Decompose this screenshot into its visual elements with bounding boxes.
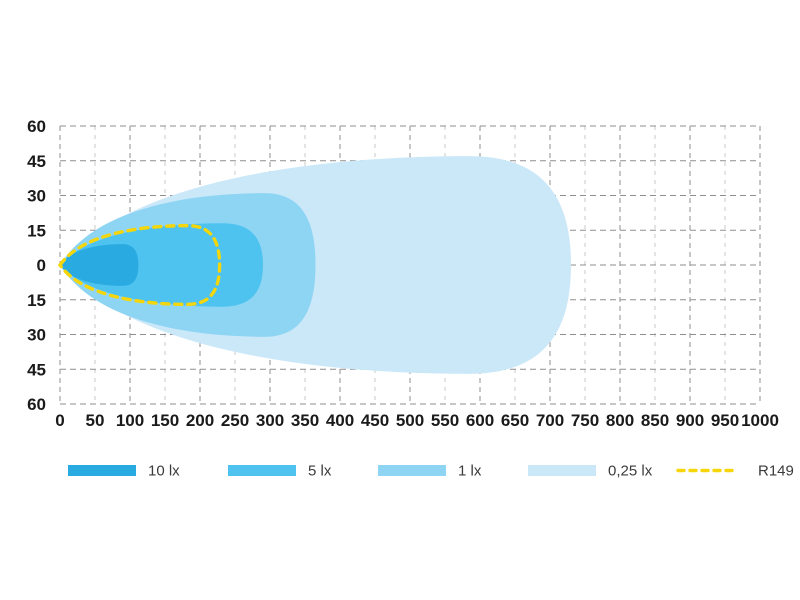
beam-pattern-plot: 0501001502002503003504004505005506006507…: [0, 0, 800, 600]
legend-label: 0,25 lx: [608, 463, 653, 480]
legend-item-0-25-lx[interactable]: 0,25 lx: [528, 463, 653, 480]
x-tick-label: 700: [536, 411, 564, 430]
x-tick-label: 1000: [741, 411, 779, 430]
legend-swatch: [68, 465, 136, 476]
y-tick-label: 60: [27, 395, 46, 414]
x-tick-label: 200: [186, 411, 214, 430]
x-axis-ticks: 0501001502002503003504004505005506006507…: [55, 411, 779, 430]
legend-label: R149: [758, 463, 794, 480]
x-tick-label: 400: [326, 411, 354, 430]
legend-label: 1 lx: [458, 463, 482, 480]
x-tick-label: 650: [501, 411, 529, 430]
x-tick-label: 0: [55, 411, 64, 430]
x-tick-label: 750: [571, 411, 599, 430]
x-tick-label: 850: [641, 411, 669, 430]
x-tick-label: 900: [676, 411, 704, 430]
chart-legend: 10 lx5 lx1 lx0,25 lxR149: [68, 463, 794, 480]
legend-label: 5 lx: [308, 463, 332, 480]
legend-swatch: [228, 465, 296, 476]
x-tick-label: 350: [291, 411, 319, 430]
x-tick-label: 950: [711, 411, 739, 430]
x-tick-label: 100: [116, 411, 144, 430]
legend-item-5-lx[interactable]: 5 lx: [228, 463, 332, 480]
x-tick-label: 800: [606, 411, 634, 430]
x-tick-label: 50: [86, 411, 105, 430]
legend-label: 10 lx: [148, 463, 180, 480]
x-tick-label: 600: [466, 411, 494, 430]
y-tick-label: 0: [37, 256, 46, 275]
legend-swatch: [528, 465, 596, 476]
x-tick-label: 450: [361, 411, 389, 430]
x-tick-label: 500: [396, 411, 424, 430]
legend-item-1-lx[interactable]: 1 lx: [378, 463, 482, 480]
y-tick-label: 30: [27, 326, 46, 345]
legend-item-10-lx[interactable]: 10 lx: [68, 463, 180, 480]
legend-swatch: [378, 465, 446, 476]
x-tick-label: 300: [256, 411, 284, 430]
x-tick-label: 150: [151, 411, 179, 430]
y-tick-label: 30: [27, 187, 46, 206]
light-distribution-chart: 0501001502002503003504004505005506006507…: [0, 0, 800, 600]
beam-contours: [60, 156, 571, 374]
y-tick-label: 45: [27, 360, 46, 379]
x-tick-label: 250: [221, 411, 249, 430]
y-tick-label: 15: [27, 221, 46, 240]
y-axis-ticks: 60453015015304560: [27, 117, 46, 414]
y-tick-label: 60: [27, 117, 46, 136]
y-tick-label: 45: [27, 152, 46, 171]
x-tick-label: 550: [431, 411, 459, 430]
y-tick-label: 15: [27, 291, 46, 310]
legend-item-r149[interactable]: R149: [678, 463, 794, 480]
